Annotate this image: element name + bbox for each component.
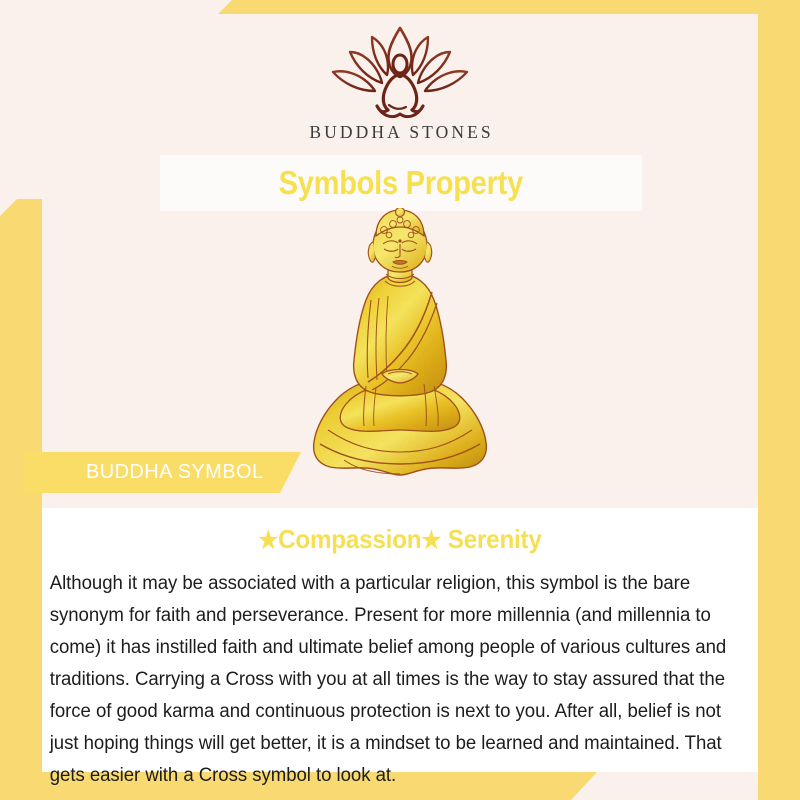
buddha-symbol-label: BUDDHA SYMBOL <box>86 461 263 484</box>
lotus-meditation-icon <box>327 22 473 120</box>
title-band: Symbols Property <box>160 155 642 211</box>
brand-wordmark: BUDDHA STONES <box>42 122 758 143</box>
content-subtitle: ★Compassion★ Serenity <box>67 524 733 555</box>
decor-right-bar <box>758 14 800 800</box>
content-body-text: Although it may be associated with a par… <box>42 568 733 792</box>
subtitle-compassion: Compassion <box>278 524 421 554</box>
content-card: BUDDHA STONES Symbols Property <box>42 14 758 772</box>
brand-logo: BUDDHA STONES <box>42 22 758 143</box>
infographic-page: BUDDHA STONES Symbols Property <box>0 0 800 800</box>
star-icon-left: ★ <box>258 527 278 554</box>
subtitle-serenity: Serenity <box>448 524 542 554</box>
buddha-symbol-banner: BUDDHA SYMBOL <box>24 452 301 493</box>
golden-buddha-statue <box>300 208 500 498</box>
decor-left-bar <box>0 199 42 800</box>
star-icon-right: ★ <box>421 527 441 554</box>
page-title: Symbols Property <box>279 164 523 202</box>
decor-top-bar <box>218 0 800 14</box>
content-panel: ★Compassion★ Serenity Although it may be… <box>42 508 758 772</box>
